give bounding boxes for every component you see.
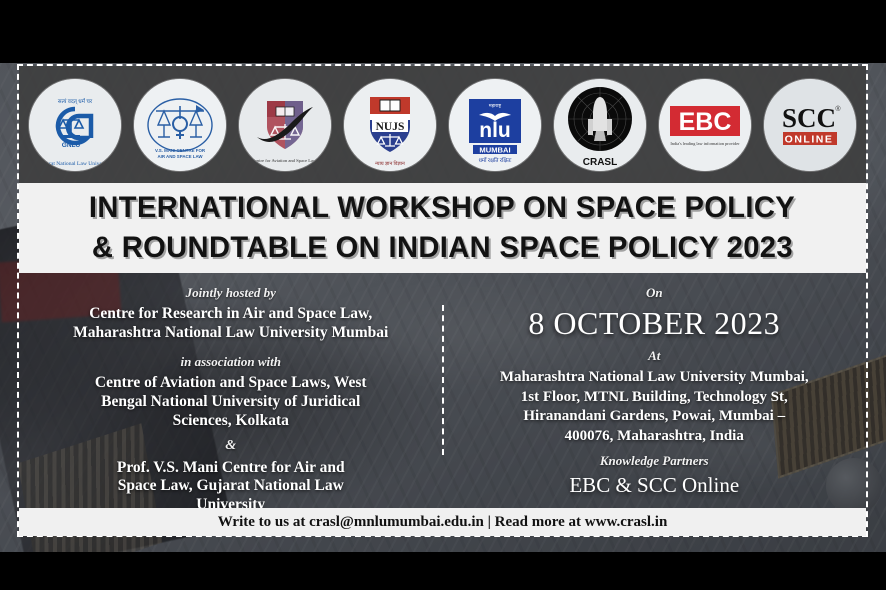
svg-text:AIR AND SPACE LAW: AIR AND SPACE LAW — [157, 154, 203, 159]
svg-text:®: ® — [835, 105, 841, 113]
title-band: INTERNATIONAL WORKSHOP ON SPACE POLICY &… — [19, 183, 866, 273]
knowledge-partners: EBC & SCC Online — [457, 473, 853, 498]
poster: सत्यं वदत् धर्मं चर GNLU Gujarat Nationa… — [0, 0, 886, 590]
page-title-line-2: & ROUNDTABLE ON INDIAN SPACE POLICY 2023 — [92, 228, 793, 268]
page-title-line-1: INTERNATIONAL WORKSHOP ON SPACE POLICY — [89, 188, 795, 228]
at-label: At — [457, 348, 853, 364]
hosts-column: Jointly hosted by Centre for Research in… — [19, 275, 443, 506]
svg-text:GNLU: GNLU — [62, 142, 81, 149]
svg-text:nlu: nlu — [479, 119, 511, 142]
event-date: 8 OCTOBER 2023 — [457, 305, 853, 342]
associate-organisation-1: Centre of Aviation and Space Laws, West … — [33, 374, 429, 431]
svg-text:महाराष्ट्र: महाराष्ट्र — [489, 103, 502, 108]
nujs-logo: NUJS न्याय ज्ञान विज्ञान — [344, 79, 436, 171]
venue-address: Maharashtra National Law University Mumb… — [457, 368, 853, 446]
svg-text:धर्मो रक्षति रक्षितः: धर्मो रक्षति रक्षितः — [479, 157, 513, 164]
mnlu-mumbai-logo: महाराष्ट्र nlu MUMBAI धर्मो रक्षति रक्षि… — [449, 79, 541, 171]
contact-footer: Write to us at crasl@mnlumumbai.edu.in |… — [19, 508, 866, 536]
scc-online-logo: SCC ® ONLINE — [764, 79, 856, 171]
ampersand-separator: & — [33, 438, 429, 454]
body-columns: Jointly hosted by Centre for Research in… — [19, 275, 866, 506]
svg-text:न्याय ज्ञान विज्ञान: न्याय ज्ञान विज्ञान — [375, 160, 405, 167]
svg-text:India's leading law informatio: India's leading law information provider — [670, 141, 740, 146]
svg-text:SCC: SCC — [782, 103, 836, 133]
svg-text:MUMBAI: MUMBAI — [479, 145, 510, 154]
top-black-bar — [0, 0, 886, 63]
nujs-cas-logo: Centre for Aviation and Space Laws — [239, 79, 331, 171]
column-divider — [442, 305, 444, 455]
jointly-hosted-label: Jointly hosted by — [33, 285, 429, 301]
svg-text:NUJS: NUJS — [376, 121, 405, 133]
on-label: On — [457, 285, 853, 301]
details-column: On 8 OCTOBER 2023 At Maharashtra Nationa… — [443, 275, 867, 506]
crasl-logo: CRASL — [554, 79, 646, 171]
bottom-black-bar — [0, 552, 886, 590]
knowledge-partners-label: Knowledge Partners — [457, 453, 853, 469]
ebc-logo: EBC India's leading law information prov… — [659, 79, 751, 171]
svg-text:EBC: EBC — [679, 108, 732, 136]
svg-text:V.S. MANI CENTRE FOR: V.S. MANI CENTRE FOR — [155, 148, 206, 153]
host-organisation: Centre for Research in Air and Space Law… — [33, 305, 429, 343]
svg-text:Gujarat National Law Universit: Gujarat National Law University — [38, 161, 112, 167]
vs-mani-centre-logo: V.S. MANI CENTRE FOR AIR AND SPACE LAW — [134, 79, 226, 171]
contact-footer-text: Write to us at crasl@mnlumumbai.edu.in |… — [218, 514, 668, 531]
logo-band: सत्यं वदत् धर्मं चर GNLU Gujarat Nationa… — [19, 66, 866, 183]
gnlu-logo: सत्यं वदत् धर्मं चर GNLU Gujarat Nationa… — [29, 79, 121, 171]
associate-organisation-2: Prof. V.S. Mani Centre for Air and Space… — [33, 459, 429, 516]
svg-text:Centre for Aviation and Space: Centre for Aviation and Space Laws — [252, 158, 319, 163]
svg-text:सत्यं वदत् धर्मं चर: सत्यं वदत् धर्मं चर — [58, 98, 93, 105]
in-association-label: in association with — [33, 354, 429, 370]
svg-text:ONLINE: ONLINE — [785, 133, 834, 145]
svg-text:CRASL: CRASL — [583, 157, 617, 168]
